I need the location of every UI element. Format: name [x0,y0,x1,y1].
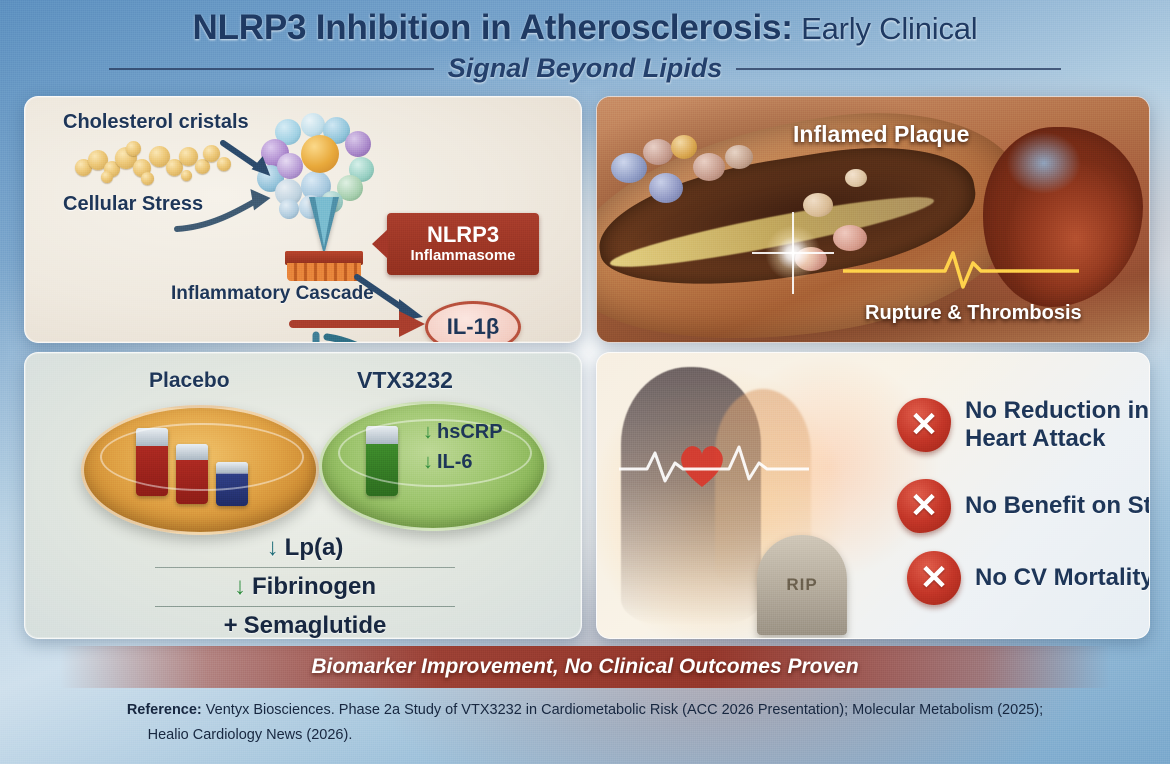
outcome-line-1: No Reduction in [965,397,1149,425]
foam-cell [693,153,725,181]
foam-cell [671,135,697,159]
plus-icon: + [224,612,238,639]
vtx-marker-label: IL-6 [437,447,473,477]
label-inflammatory-cascade: Inflammatory Cascade [171,283,374,305]
pill-il1b: IL-1β [425,301,521,343]
page-subtitle: Signal Beyond Lipids [448,53,723,84]
vial-red [136,428,168,496]
nlrp3-badge-title: NLRP3 [427,223,499,246]
heart-x-icon: ✕ [897,398,951,452]
panel-trial-comparison: Placebo VTX3232 ↓hsCRP ↓IL-6 ↓ Lp(a) ↓ F… [24,352,582,639]
summary-banner: Biomarker Improvement, No Clinical Outco… [60,646,1110,688]
down-arrow-icon: ↓ [267,534,279,562]
biomarker-row: + Semaglutide [155,607,455,639]
heading-placebo: Placebo [149,369,230,393]
foam-cell [649,173,683,203]
reference-line-2: Healio Cardiology News (2026). [0,725,1170,747]
brain-x-icon: ✕ [897,479,951,533]
biomarker-label: Fibrinogen [252,573,376,601]
vtx-marker-item: ↓IL-6 [423,447,503,477]
title-tail: Early Clinical [793,11,978,46]
outcome-line-2: Heart Attack [965,425,1149,453]
circle-x-icon: ✕ [907,551,961,605]
arrow-membrane-to-hscrp [325,333,421,343]
ecg-trace-icon [843,245,1079,293]
petri-dish-placebo [81,405,319,535]
foam-cell [725,145,753,169]
summary-banner-text: Biomarker Improvement, No Clinical Outco… [311,655,858,679]
ecg-trace-icon [619,437,809,487]
foam-cell [845,169,867,187]
vial-red [176,444,208,504]
reference-text-1: Ventyx Biosciences. Phase 2a Study of VT… [202,702,1043,718]
panel-inflamed-plaque: Inflamed Plaque Rupture & Thrombosis [596,96,1150,343]
x-glyph: ✕ [920,561,949,595]
caption-rupture-thrombosis: Rupture & Thrombosis [865,302,1082,325]
foam-cell [803,193,833,217]
biomarker-row: ↓ Fibrinogen [155,568,455,606]
subtitle-row: Signal Beyond Lipids [0,53,1170,84]
outcome-row-stroke: ✕ No Benefit on Stroke [897,479,1150,533]
outcome-text-heart-attack: No Reduction in Heart Attack [965,397,1149,454]
x-glyph: ✕ [910,489,939,523]
rule-left [109,68,434,70]
biomarker-label: Lp(a) [285,534,344,562]
biomarker-list: ↓ Lp(a) ↓ Fibrinogen + Semaglutide [155,529,455,639]
nlrp3-badge-subtitle: Inflammasome [410,247,515,265]
rupture-spark-icon [765,225,821,281]
outcome-row-heart-attack: ✕ No Reduction in Heart Attack [897,397,1149,454]
reference-block: Reference: Ventyx Biosciences. Phase 2a … [0,700,1170,747]
header: NLRP3 Inhibition in Atherosclerosis: Ear… [0,8,1170,84]
down-arrow-icon: ↓ [234,573,246,601]
vtx-marker-list: ↓hsCRP ↓IL-6 [423,417,503,477]
vtx-marker-item: ↓hsCRP [423,417,503,447]
vial-blue [216,462,248,506]
caption-inflamed-plaque: Inflamed Plaque [793,121,969,148]
biomarker-label: Semaglutide [244,612,387,639]
panel-clinical-outcomes: RIP ✕ No Reduction in Heart Attack ✕ No … [596,352,1150,639]
foam-cell [611,153,647,183]
outcome-text-mortality: No CV Mortality Impact [975,564,1150,592]
title-lead: NLRP3 Inhibition in Atherosclerosis: [193,8,793,47]
x-glyph: ✕ [910,408,939,442]
rule-right [736,68,1061,70]
reference-line-1: Reference: Ventyx Biosciences. Phase 2a … [0,700,1170,722]
arrow-crystals-to-inflammasome [221,139,279,183]
page-title: NLRP3 Inhibition in Atherosclerosis: Ear… [0,8,1170,48]
arrow-stress-to-inflammasome [175,193,275,237]
heading-vtx3232: VTX3232 [357,367,453,394]
infographic-canvas: NLRP3 Inhibition in Atherosclerosis: Ear… [0,0,1170,764]
outcome-text-stroke: No Benefit on Stroke [965,492,1150,520]
panel-mechanism: Cholesterol cristals Cellular Stress Inf… [24,96,582,343]
reference-label: Reference: [127,702,202,718]
biomarker-row: ↓ Lp(a) [155,529,455,567]
gravestone-icon: RIP [757,535,847,635]
foam-cell [643,139,673,165]
vial-green [366,426,398,496]
gravestone-label: RIP [757,575,847,595]
down-arrow-icon: ↓ [423,417,433,447]
vtx-marker-label: hsCRP [437,417,503,447]
nlrp3-badge: NLRP3 Inflammasome [387,213,539,275]
down-arrow-icon: ↓ [423,447,433,477]
outcome-row-mortality: ✕ No CV Mortality Impact [907,551,1150,605]
label-cholesterol-crystals: Cholesterol cristals [63,111,249,134]
